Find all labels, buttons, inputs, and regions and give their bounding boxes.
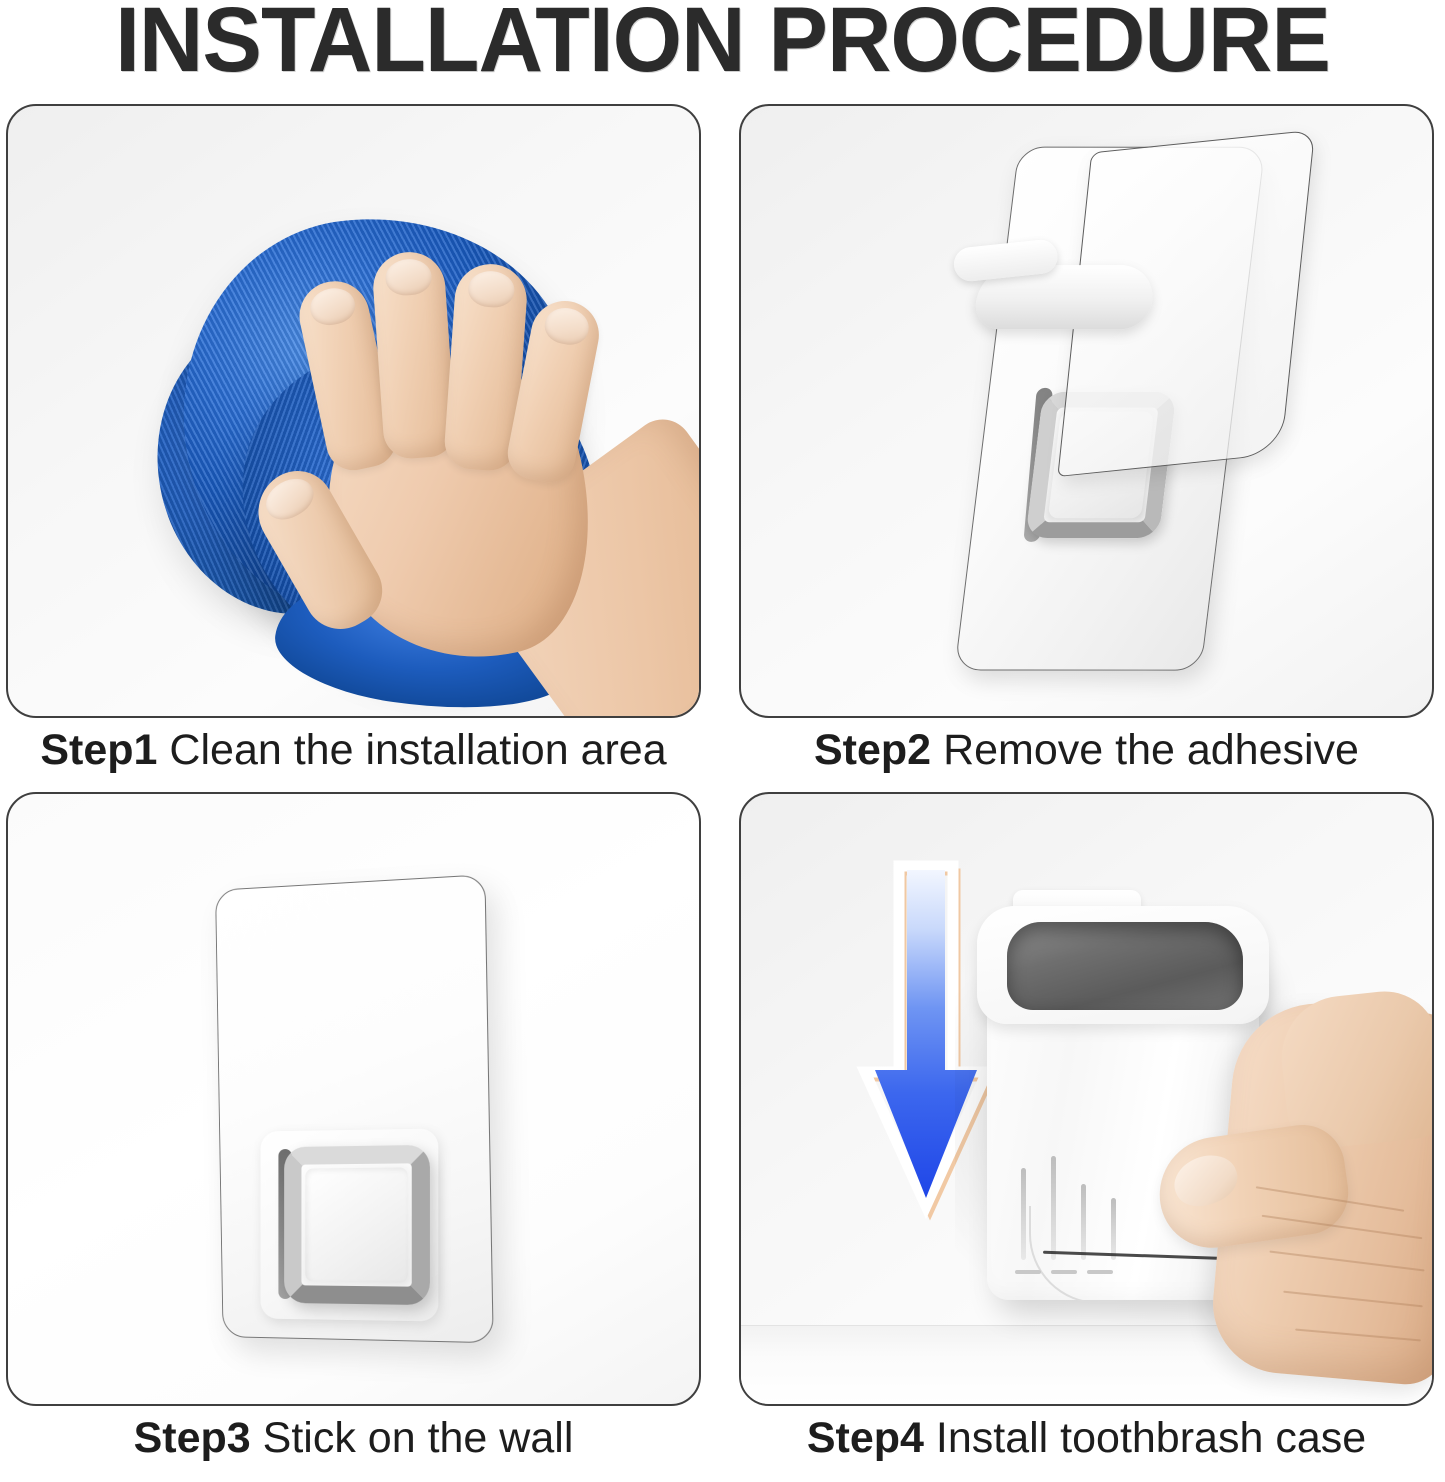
step-4-caption: Step4 Install toothbrash case [739,1414,1434,1463]
square-hook-mounted [284,1145,430,1305]
page-title: INSTALLATION PROCEDURE [22,0,1424,86]
step-3-text: Stick on the wall [263,1414,574,1462]
step-2-caption: Step2 Remove the adhesive [739,726,1434,775]
step-1-caption: Step1 Clean the installation area [6,726,701,775]
steps-grid: Step1 Clean the installation area [0,104,1445,1464]
step-2-image-panel [739,104,1434,718]
adhesive-assembly [895,104,1404,718]
step-3-caption: Step3 Stick on the wall [6,1414,701,1463]
slot-line [1087,1270,1113,1274]
slot-divider [1051,1156,1056,1260]
thumbnail [259,471,320,527]
slot-divider [1021,1168,1026,1260]
case-slot-dividers [1007,1156,1135,1286]
fingernail [384,258,432,297]
slot-line [1051,1270,1077,1274]
step-1-text: Clean the installation area [169,726,666,774]
slot-divider [1111,1198,1116,1260]
step-4-text: Install toothbrash case [936,1414,1366,1462]
step-4-number: Step4 [807,1414,924,1462]
fingernail [307,284,358,329]
fingernail [467,270,515,309]
step-card-4: Step4 Install toothbrash case [739,792,1442,1482]
step-3-number: Step3 [134,1414,251,1462]
step-card-1: Step1 Clean the installation area [6,104,709,794]
hook-inner-face [305,1167,407,1282]
slot-divider [1081,1184,1086,1260]
fingernail [542,304,592,348]
step-2-number: Step2 [814,726,931,774]
step-1-number: Step1 [40,726,157,774]
step-1-image-panel [6,104,701,718]
scene-clean-area [8,106,699,716]
hand-holding-case [1133,972,1434,1406]
finger-middle [371,250,457,461]
step-card-2: Step2 Remove the adhesive [739,104,1442,794]
hand-wiping [218,234,688,718]
step-2-text: Remove the adhesive [943,726,1359,774]
thumbnail [1167,1147,1244,1214]
scene-install-case [741,794,1432,1404]
step-4-image-panel [739,792,1434,1406]
scene-remove-adhesive [741,106,1432,716]
slot-line [1015,1270,1041,1274]
